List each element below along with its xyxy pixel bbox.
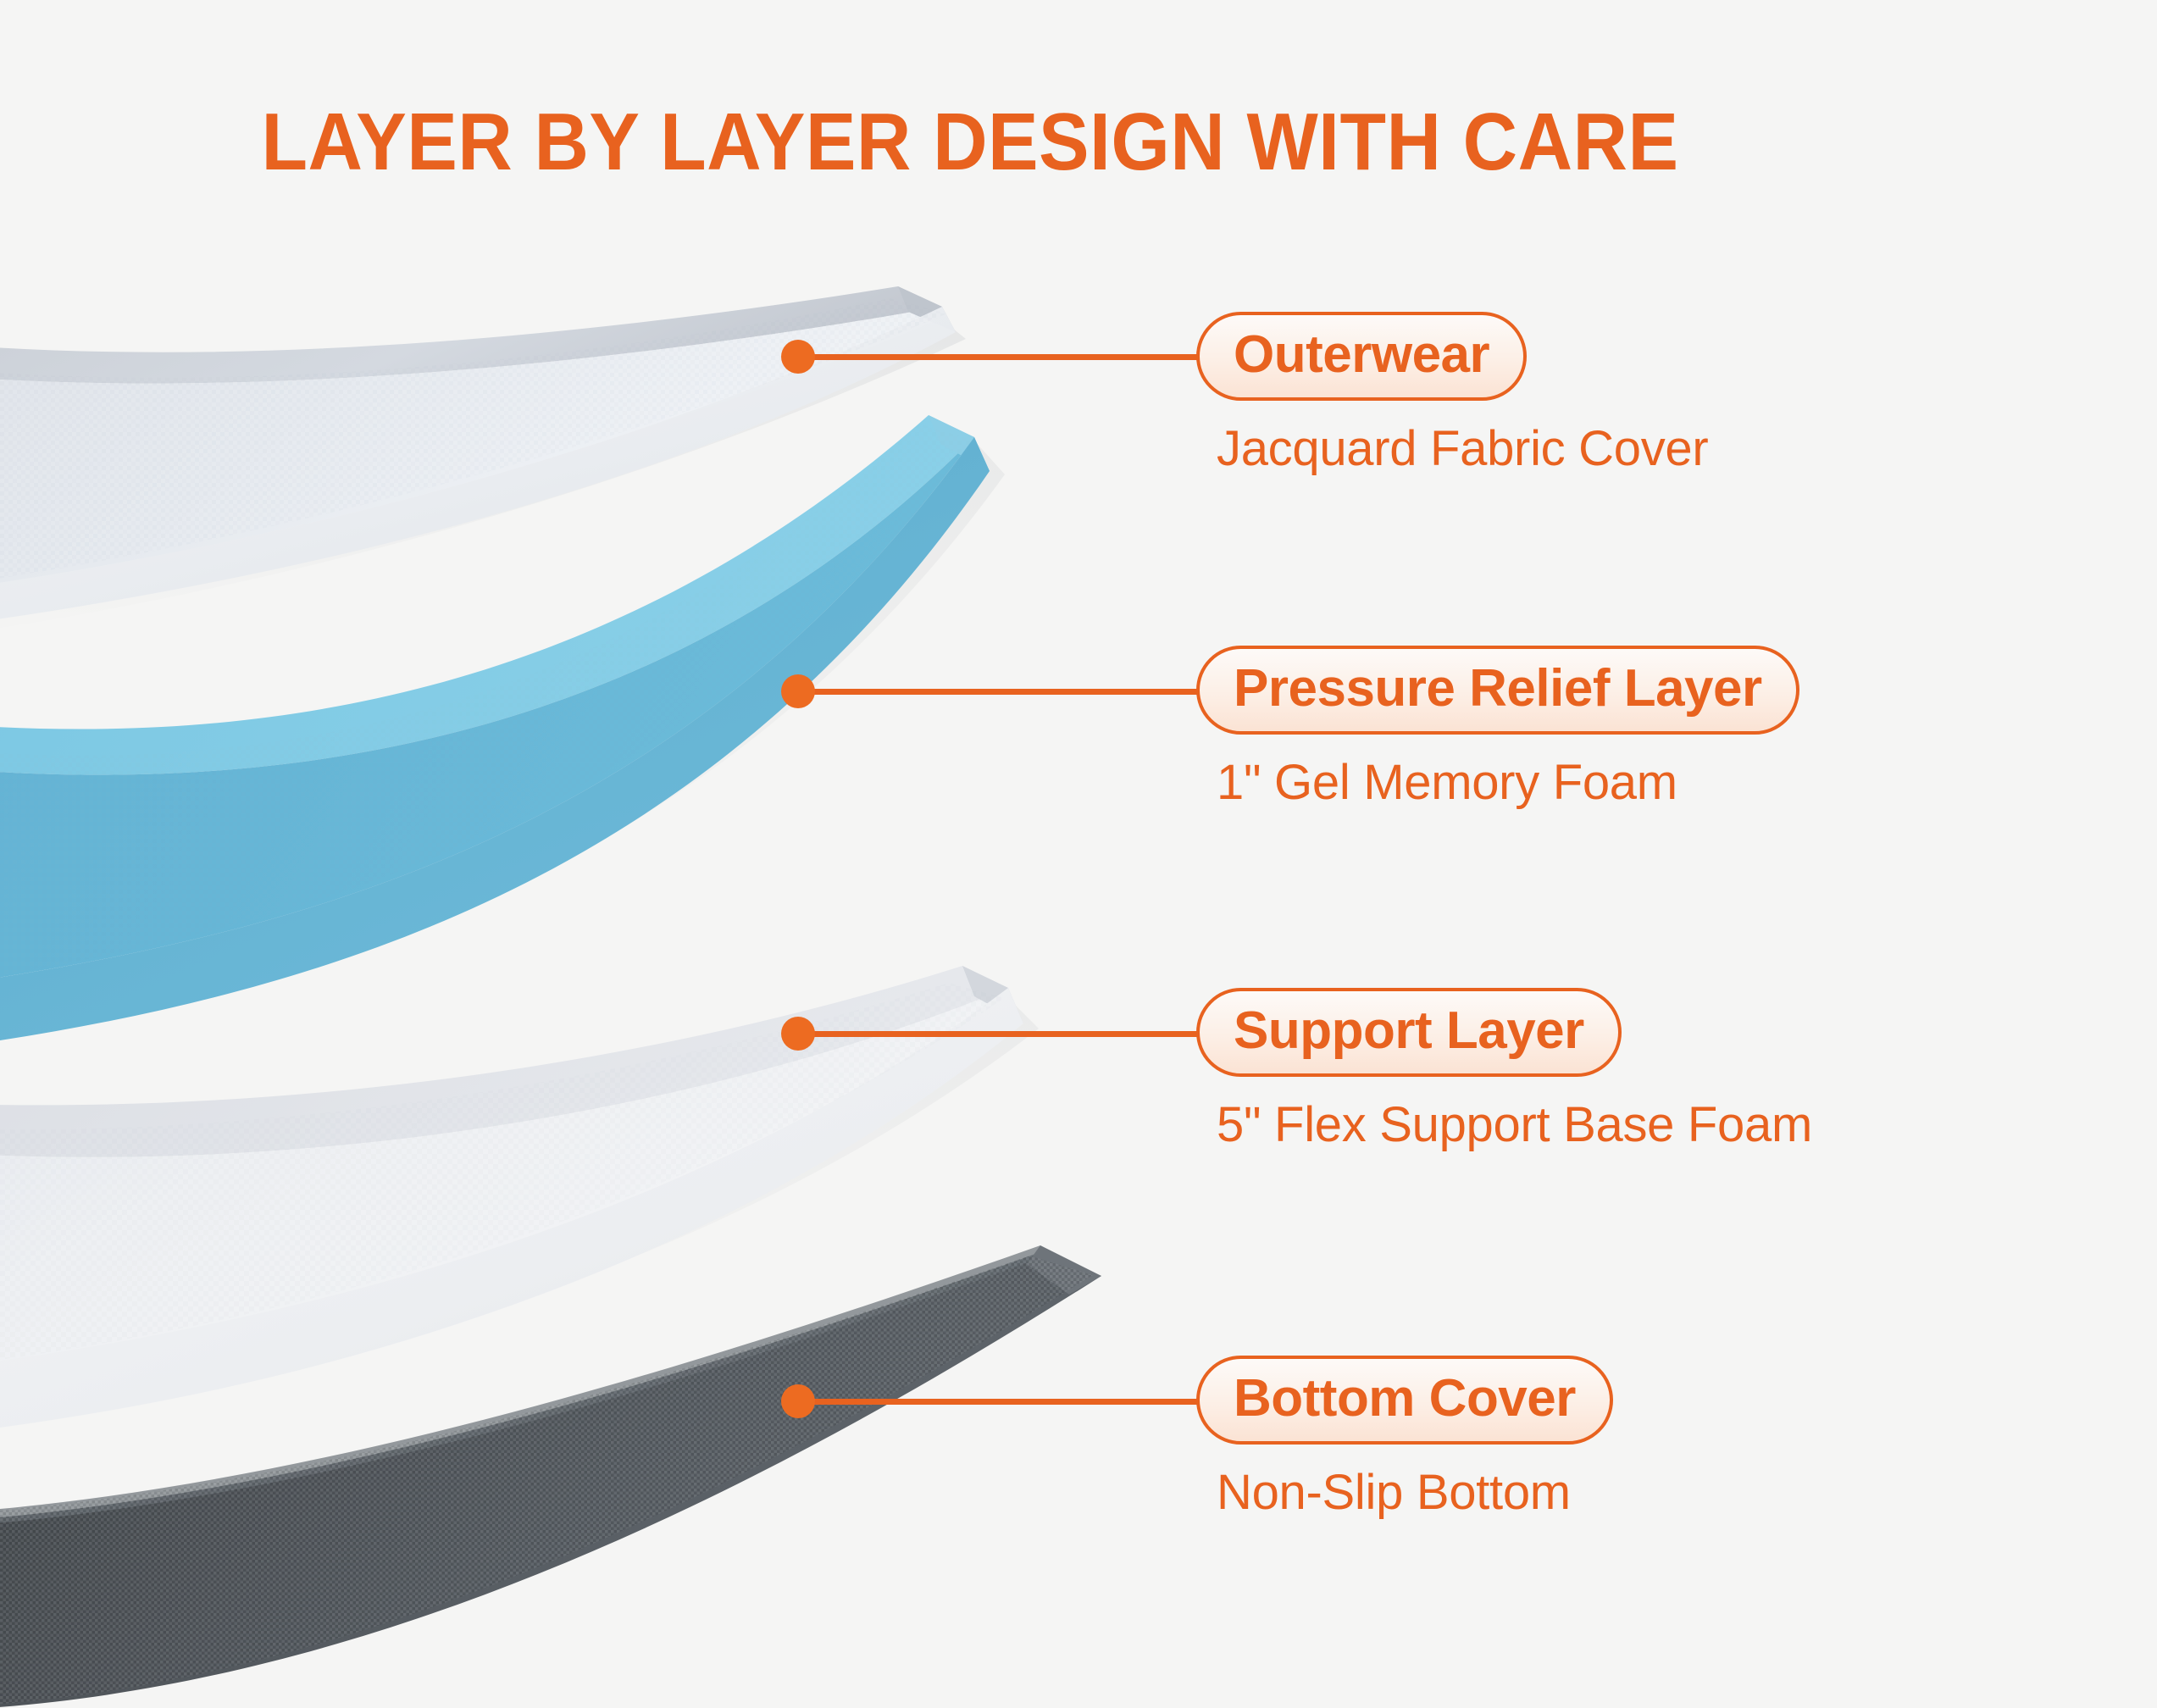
leader-line-support: [796, 1031, 1203, 1037]
leader-dot-pressure-relief: [781, 674, 815, 708]
layer-description-pressure-relief: 1" Gel Memory Foam: [1196, 755, 1799, 812]
infographic-canvas: LAYER BY LAYER DESIGN WITH CARE Outerwea…: [0, 0, 2157, 1708]
layer-description-outerwear: Jacquard Fabric Cover: [1196, 421, 1708, 478]
layer-badge-support[interactable]: Support Layer: [1196, 988, 1622, 1077]
mattress-layer-illustration: [0, 0, 2157, 1708]
layer-badge-outerwear[interactable]: Outerwear: [1196, 312, 1527, 401]
layer-description-support: 5" Flex Support Base Foam: [1196, 1097, 1812, 1154]
label-group-bottom-cover: Bottom Cover Non-Slip Bottom: [1196, 1356, 1613, 1522]
leader-line-outerwear: [796, 354, 1203, 360]
page-title: LAYER BY LAYER DESIGN WITH CARE: [68, 100, 1872, 186]
label-group-pressure-relief: Pressure Relief Layer 1" Gel Memory Foam: [1196, 646, 1799, 812]
leader-line-pressure-relief: [796, 689, 1203, 695]
layer-badge-pressure-relief[interactable]: Pressure Relief Layer: [1196, 646, 1799, 735]
layer-shape-outerwear: [0, 271, 1034, 661]
layer-shape-bottom-cover: [0, 1220, 1135, 1708]
leader-line-bottom-cover: [796, 1399, 1203, 1405]
leader-dot-outerwear: [781, 340, 815, 374]
label-group-outerwear: Outerwear Jacquard Fabric Cover: [1196, 312, 1708, 478]
leader-dot-bottom-cover: [781, 1384, 815, 1418]
layer-shape-pressure-relief: [0, 398, 1051, 1076]
leader-dot-support: [781, 1017, 815, 1051]
label-group-support: Support Layer 5" Flex Support Base Foam: [1196, 988, 1812, 1154]
layer-badge-bottom-cover[interactable]: Bottom Cover: [1196, 1356, 1613, 1445]
layer-description-bottom-cover: Non-Slip Bottom: [1196, 1465, 1613, 1522]
layer-shape-support: [0, 949, 1067, 1474]
